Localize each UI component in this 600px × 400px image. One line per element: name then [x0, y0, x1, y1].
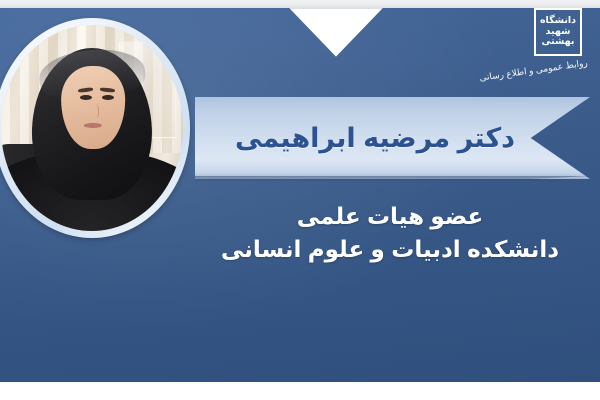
portrait-photo — [1, 25, 183, 231]
portrait-eye-left — [80, 95, 92, 100]
portrait-nose — [92, 104, 98, 117]
logo-line-3: بهشتی — [542, 37, 575, 48]
faculty-announcement-card: دانشگاه شهید بهشتی روابط عمومی و اطلاع ر… — [0, 0, 600, 400]
faculty-name: دکتر مرضیه ابراهیمی — [195, 97, 555, 179]
portrait-eye-right — [102, 95, 114, 100]
university-logo: دانشگاه شهید بهشتی روابط عمومی و اطلاع ر… — [496, 6, 588, 88]
public-relations-calligraphy: روابط عمومی و اطلاع رسانی — [494, 48, 589, 91]
bottom-white-strip — [0, 382, 600, 400]
faculty-subtitle: عضو هیات علمی دانشکده ادبیات و علوم انسا… — [190, 200, 590, 265]
faculty-department: دانشکده ادبیات و علوم انسانی — [190, 233, 590, 266]
faculty-role: عضو هیات علمی — [190, 200, 590, 233]
university-logo-mark-text: دانشگاه شهید بهشتی — [540, 14, 576, 50]
portrait-photo-circle — [0, 18, 190, 238]
